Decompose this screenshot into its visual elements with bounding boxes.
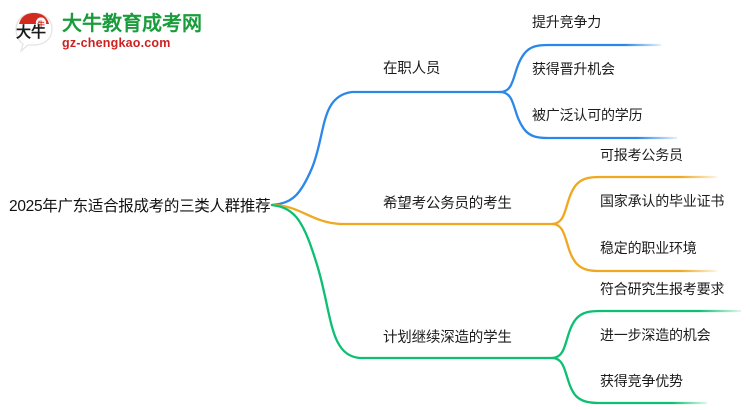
branch-label-3[interactable]: 计划继续深造的学生: [383, 326, 512, 347]
leaf-label-3-3[interactable]: 获得竞争优势: [600, 371, 683, 391]
leaf-label-1-2[interactable]: 获得晋升机会: [532, 59, 615, 79]
leaf-label-2-1[interactable]: 可报考公务员: [600, 145, 683, 165]
leaf-label-3-1[interactable]: 符合研究生报考要求: [600, 279, 724, 299]
connector-branch-1: [272, 45, 676, 205]
branch-label-1[interactable]: 在职人员: [383, 57, 440, 78]
mindmap-canvas: 牛 大牛 大牛教育成考网 gz-chengkao.com: [0, 0, 750, 410]
leaf-label-1-1[interactable]: 提升竞争力: [532, 12, 601, 32]
leaf-label-1-3[interactable]: 被广泛认可的学历: [532, 105, 642, 125]
branch-label-2[interactable]: 希望考公务员的考生: [383, 192, 512, 213]
leaf-label-2-2[interactable]: 国家承认的毕业证书: [600, 191, 724, 211]
leaf-label-3-2[interactable]: 进一步深造的机会: [600, 325, 710, 345]
leaf-label-2-3[interactable]: 稳定的职业环境: [600, 238, 697, 258]
root-node-label[interactable]: 2025年广东适合报成考的三类人群推荐: [9, 194, 270, 216]
